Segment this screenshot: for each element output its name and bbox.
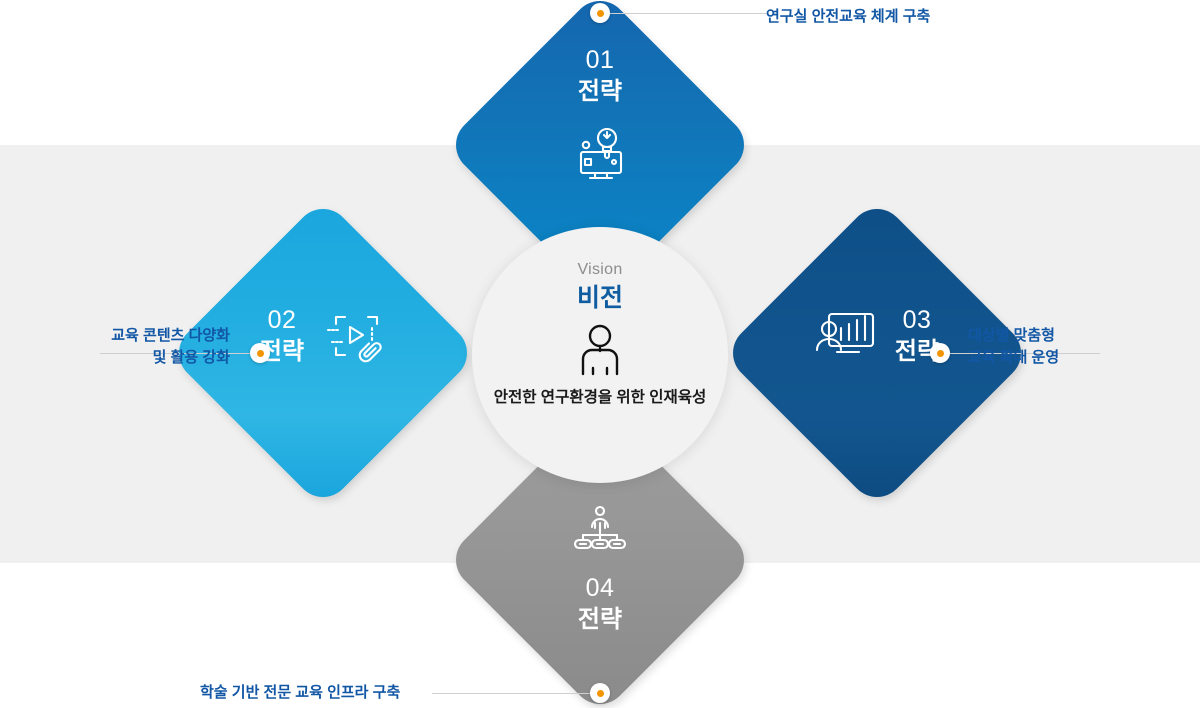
connector-line-04 <box>432 693 592 694</box>
connector-dot-04[interactable] <box>590 683 610 703</box>
caption-01: 연구실 안전교육 체계 구축 <box>766 6 930 28</box>
connector-dot-02[interactable] <box>250 343 270 363</box>
caption-04: 학술 기반 전문 교육 인프라 구축 <box>200 682 400 704</box>
vision-circle[interactable]: Vision 비전 안전한 연구환경을 위한 인재육성 <box>472 227 728 483</box>
connector-dot-03[interactable] <box>930 343 950 363</box>
vision-label-en: Vision <box>577 261 622 279</box>
caption-02: 교육 콘텐츠 다양화 및 활용 강화 <box>60 325 230 369</box>
strategy-diagram: 01 전략 02 전략 <box>0 0 1200 708</box>
person-icon <box>573 323 627 382</box>
vision-description: 안전한 연구환경을 위한 인재육성 <box>494 388 707 409</box>
vision-label-ko: 비전 <box>577 283 623 313</box>
caption-03: 대상별 맞춤형 교육 확대 운영 <box>968 325 1148 369</box>
connector-line-01 <box>610 13 768 14</box>
connector-dot-01[interactable] <box>590 3 610 23</box>
